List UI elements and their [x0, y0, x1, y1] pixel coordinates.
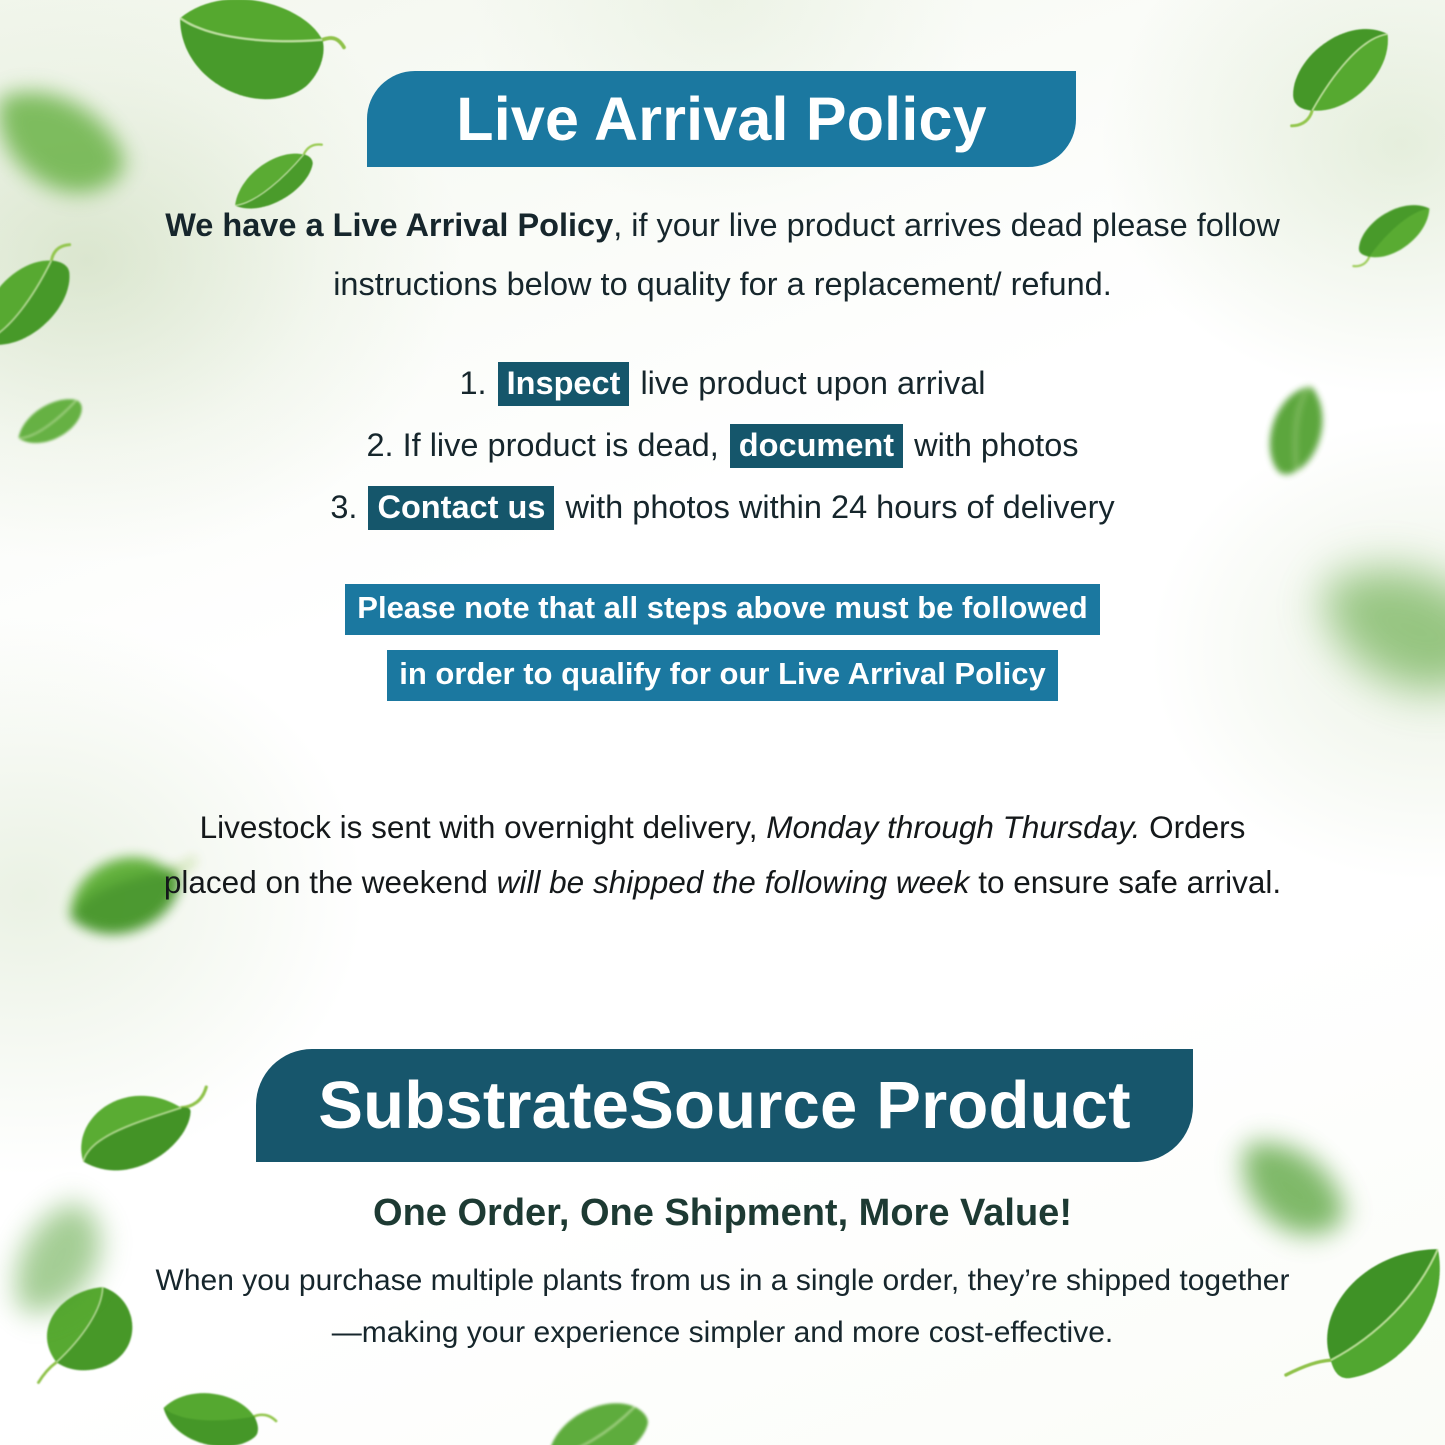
- step-prefix: If live product is dead,: [403, 427, 719, 463]
- step-highlight-document: document: [730, 424, 903, 468]
- policy-step-3: 3. Contact us with photos within 24 hour…: [120, 476, 1325, 538]
- step-number: 2.: [366, 427, 393, 463]
- substratesource-product-banner: SubstrateSource Product: [256, 1049, 1193, 1162]
- step-suffix: with photos: [914, 427, 1078, 463]
- shipping-schedule-paragraph: Livestock is sent with overnight deliver…: [150, 800, 1295, 910]
- product-description: When you purchase multiple plants from u…: [150, 1255, 1295, 1359]
- policy-note-block: Please note that all steps above must be…: [120, 584, 1325, 716]
- policy-note-line-1: Please note that all steps above must be…: [345, 584, 1099, 635]
- live-arrival-policy-banner: Live Arrival Policy: [367, 71, 1076, 167]
- policy-note-line-2: in order to qualify for our Live Arrival…: [387, 650, 1058, 701]
- substratesource-product-title: SubstrateSource Product: [318, 1067, 1131, 1144]
- policy-steps-list: 1. Inspect live product upon arrival 2. …: [120, 352, 1325, 538]
- step-highlight-inspect: Inspect: [498, 362, 630, 406]
- step-highlight-contact-us[interactable]: Contact us: [368, 486, 554, 530]
- step-number: 3.: [330, 489, 357, 525]
- product-tagline: One Order, One Shipment, More Value!: [120, 1192, 1325, 1235]
- policy-step-2: 2. If live product is dead, document wit…: [120, 414, 1325, 476]
- shipping-line1-italic: Monday through Thursday.: [766, 809, 1140, 845]
- step-number: 1.: [459, 365, 486, 401]
- shipping-line1-plain: Livestock is sent with overnight deliver…: [200, 809, 758, 845]
- page-content: Live Arrival Policy We have a Live Arriv…: [0, 0, 1445, 1445]
- live-arrival-policy-title: Live Arrival Policy: [456, 84, 986, 154]
- shipping-line3-plain: to ensure safe arrival.: [978, 864, 1281, 900]
- intro-paragraph: We have a Live Arrival Policy, if your l…: [120, 196, 1325, 314]
- step-suffix: live product upon arrival: [640, 365, 985, 401]
- policy-step-1: 1. Inspect live product upon arrival: [120, 352, 1325, 414]
- step-suffix: with photos within 24 hours of delivery: [565, 489, 1114, 525]
- shipping-line2-italic: will be shipped the following week: [497, 864, 970, 900]
- intro-bold-phrase: We have a Live Arrival Policy: [165, 207, 613, 243]
